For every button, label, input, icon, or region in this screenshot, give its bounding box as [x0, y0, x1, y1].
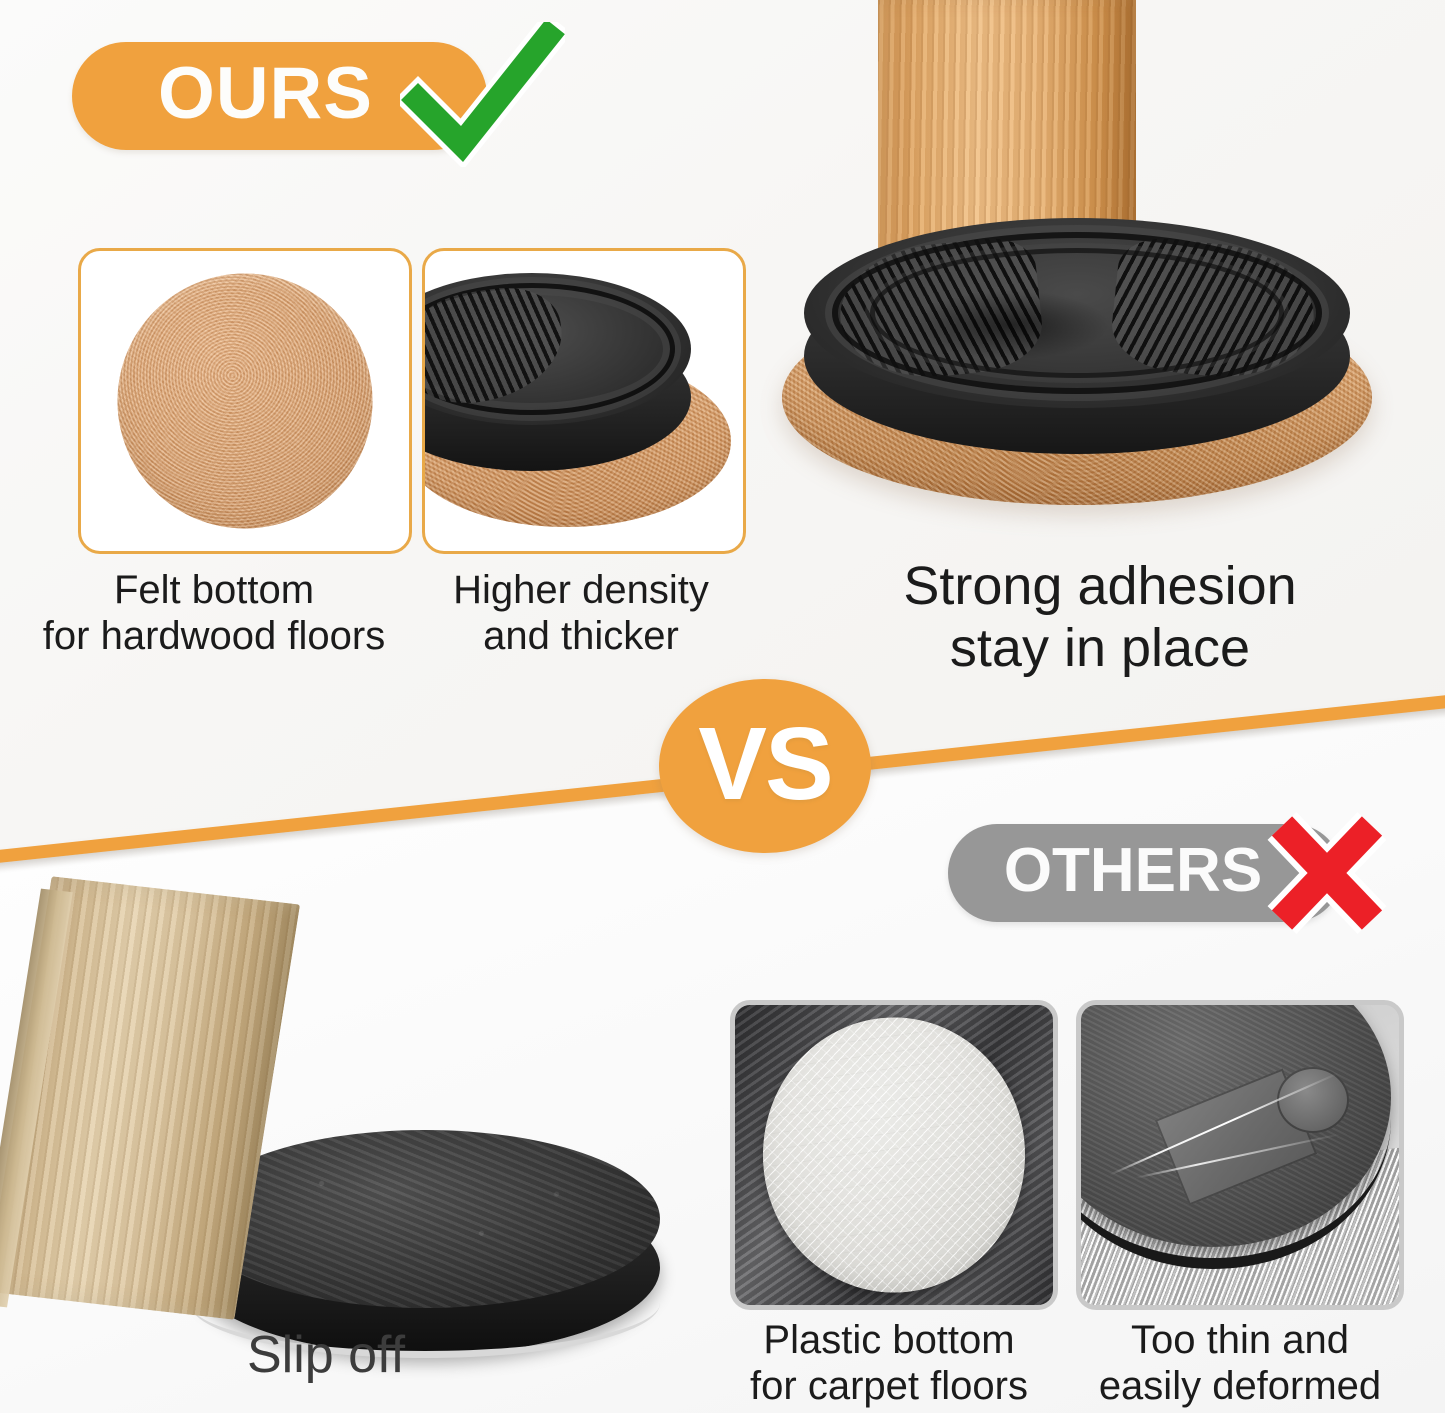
rubber-felt-stack-photo-frame [422, 248, 746, 554]
hero-caption-adhesion: Strong adhesion stay in place [838, 556, 1362, 679]
felt-pad-photo [81, 251, 409, 551]
felt-disc-shape [118, 274, 373, 529]
thin-deformed-pad-photo [1081, 1005, 1399, 1305]
check-icon [400, 22, 565, 167]
vs-badge-label: VS [698, 712, 831, 815]
scratched-plastic-pad-photo [735, 1005, 1053, 1305]
feature-caption-density: Higher density and thicker [420, 568, 742, 659]
x-icon [1262, 812, 1392, 934]
leg-contact-shadow [910, 290, 1110, 360]
rubber-felt-stack-photo [425, 251, 743, 551]
vs-badge: VS [659, 679, 871, 853]
comparison-infographic: OURS Felt bottom for hardwood floors Hig… [0, 0, 1445, 1413]
leg-slipping-off-pad-photo [0, 880, 710, 1350]
scratched-plastic-disc [763, 1018, 1025, 1293]
feature-caption-plastic: Plastic bottom for carpet floors [714, 1318, 1064, 1409]
felt-pad-photo-frame [78, 248, 412, 554]
furniture-leg-on-pad-photo [760, 0, 1400, 550]
pad-knob [1277, 1067, 1349, 1133]
ours-badge-label: OURS [158, 57, 373, 130]
feature-caption-felt: Felt bottom for hardwood floors [40, 568, 388, 659]
hero-caption-slip-off: Slip off [150, 1326, 502, 1385]
feature-caption-thin: Too thin and easily deformed [1068, 1318, 1412, 1409]
scratched-plastic-pad-photo-frame [730, 1000, 1058, 1310]
thin-deformed-pad-photo-frame [1076, 1000, 1404, 1310]
others-badge-label: OTHERS [1004, 840, 1262, 902]
